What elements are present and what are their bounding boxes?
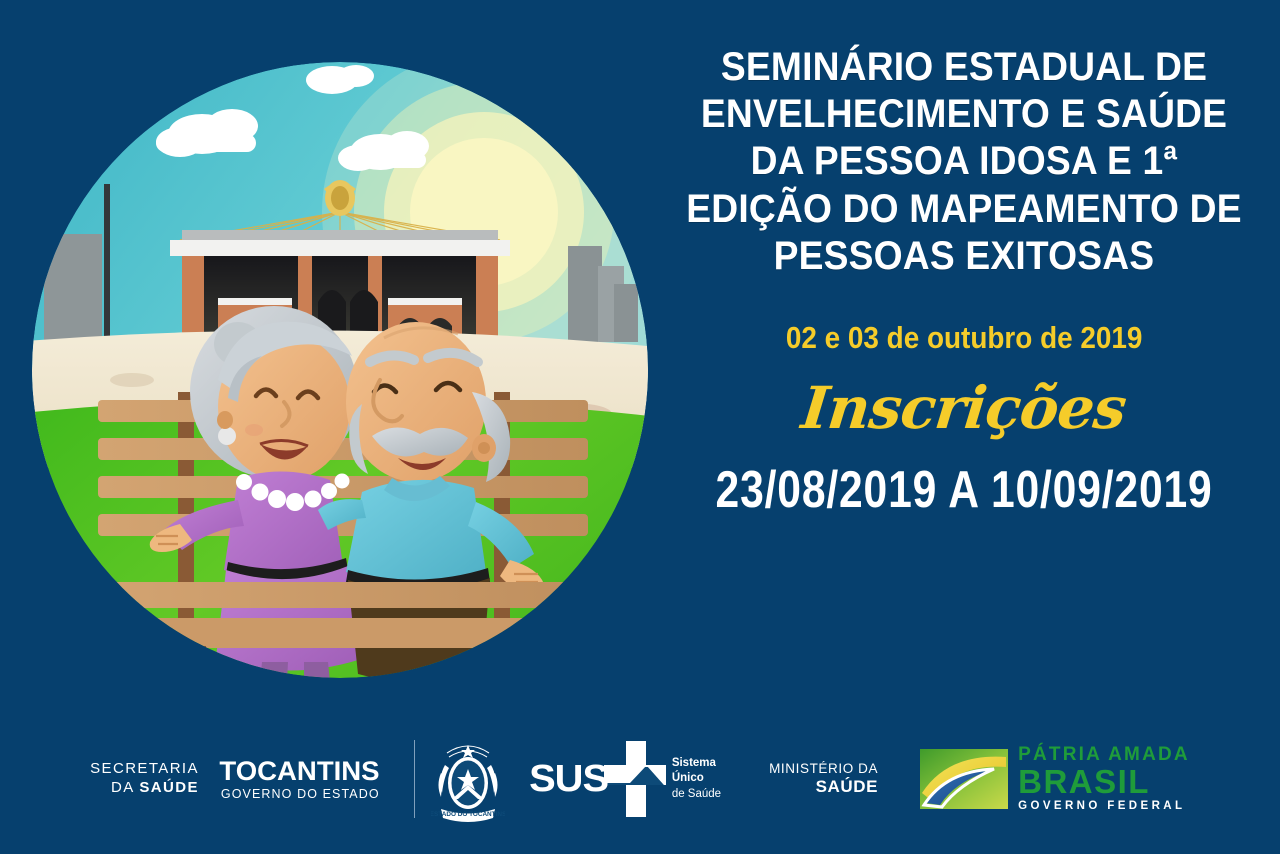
- ministerio-saude-logo: MINISTÉRIO DA SAÚDE: [769, 761, 878, 798]
- sus-subtitle: Sistema Único de Saúde: [672, 756, 721, 802]
- registration-period: 23/08/2019 A 10/09/2019: [715, 460, 1212, 520]
- sus-sub-line1: Sistema: [672, 757, 716, 769]
- secretaria-saude-logo: SECRETARIA DA SAÚDE: [90, 760, 199, 798]
- brasil-wordmark: PÁTRIA AMADA BRASIL GOVERNO FEDERAL: [1018, 745, 1190, 813]
- event-poster: SEMINÁRIO ESTADUAL DE ENVELHECIMENTO E S…: [0, 0, 1280, 854]
- secretaria-line2: DA SAÚDE: [90, 779, 199, 798]
- tocantins-government-logo: TOCANTINS GOVERNO DO ESTADO: [221, 757, 380, 800]
- event-dates: 02 e 03 de outubro de 2019: [786, 320, 1143, 356]
- brasil-line3: GOVERNO FEDERAL: [1018, 801, 1190, 813]
- brasao-bottom-text: ESTADO DO TOCANTINS: [431, 811, 505, 818]
- ministerio-line1: MINISTÉRIO DA: [769, 761, 878, 777]
- tocantins-name: TOCANTINS: [219, 757, 381, 785]
- tocantins-subtitle: GOVERNO DO ESTADO: [221, 788, 380, 801]
- sus-sub-line3: de Saúde: [672, 788, 721, 800]
- illustration-circle: [32, 62, 648, 678]
- sponsor-logo-bar: SECRETARIA DA SAÚDE TOCANTINS GOVERNO DO…: [0, 704, 1280, 854]
- brasil-line1: PÁTRIA AMADA: [1018, 745, 1190, 764]
- sus-logo: SUS Sistema Único de Saúde: [531, 741, 721, 817]
- logo-divider: [414, 740, 415, 818]
- page-title: SEMINÁRIO ESTADUAL DE ENVELHECIMENTO E S…: [685, 44, 1243, 280]
- brazil-flag-icon: [920, 749, 1008, 809]
- ministerio-line2: SAÚDE: [769, 777, 878, 797]
- sus-wordmark: SUS: [529, 758, 608, 801]
- brasil-line2: BRASIL: [1018, 765, 1190, 798]
- park-scene-illustration: [32, 62, 648, 678]
- tocantins-coat-of-arms-icon: ESTADO DO TOCANTINS: [431, 731, 505, 827]
- sus-sub-line2: Único: [672, 772, 704, 784]
- secretaria-line1: SECRETARIA: [90, 760, 199, 779]
- registration-heading: Inscrições: [799, 374, 1130, 442]
- patria-amada-brasil-logo: PÁTRIA AMADA BRASIL GOVERNO FEDERAL: [920, 745, 1190, 813]
- event-text-column: SEMINÁRIO ESTADUAL DE ENVELHECIMENTO E S…: [648, 0, 1280, 690]
- sus-cross-icon: [604, 741, 666, 817]
